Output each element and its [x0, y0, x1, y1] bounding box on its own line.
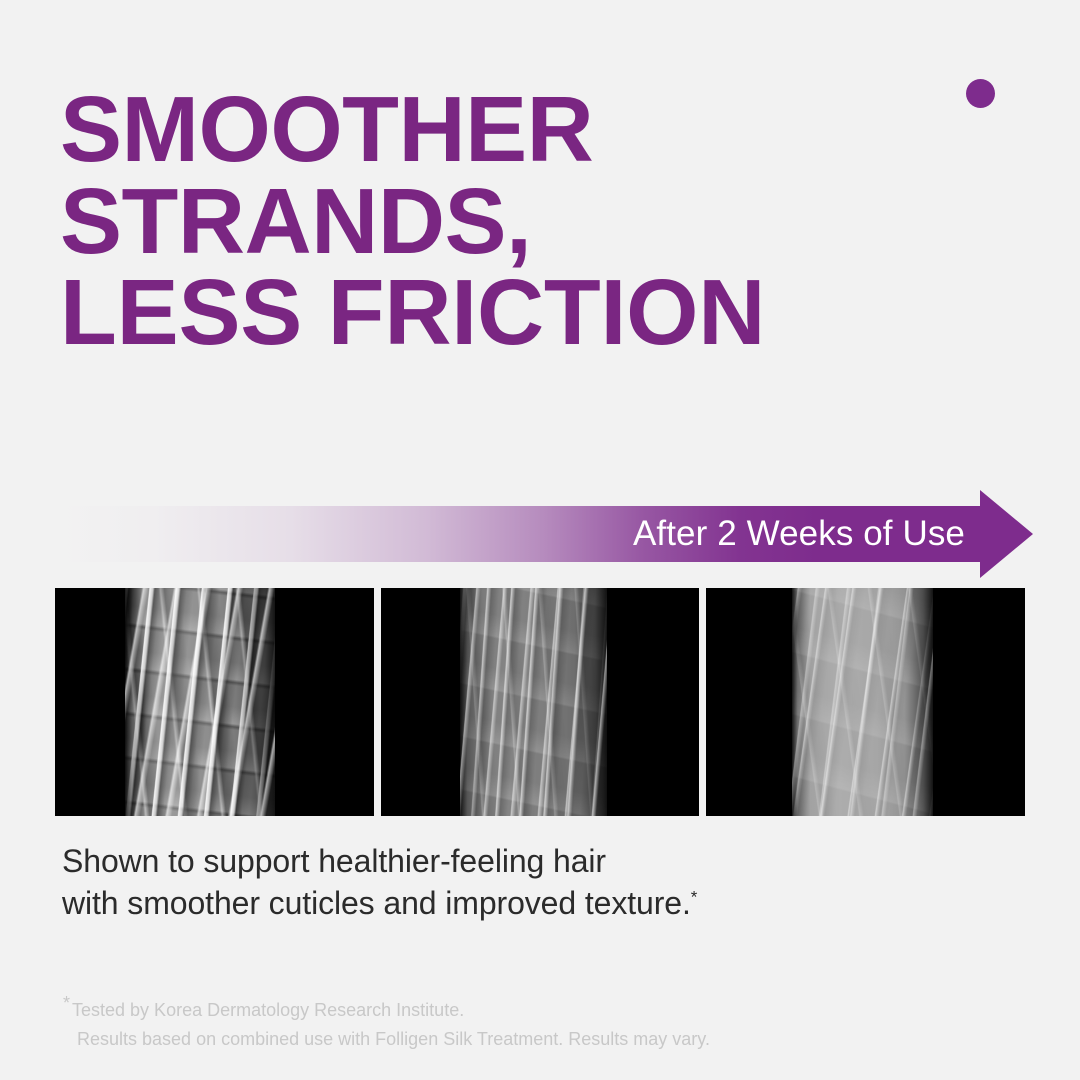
timeline-arrow: After 2 Weeks of Use [55, 486, 1033, 582]
claim-text: Shown to support healthier-feeling hair … [62, 841, 982, 924]
footnote-line-1-wrap: *Tested by Korea Dermatology Research In… [63, 996, 1003, 1025]
headline-block: SMOOTHER STRANDS, LESS FRICTION [60, 84, 980, 359]
footnote-star: * [63, 993, 70, 1013]
dot-accent-icon [966, 79, 995, 108]
ad-creative-canvas: SMOOTHER STRANDS, LESS FRICTION [0, 0, 1080, 1080]
footnote-block: *Tested by Korea Dermatology Research In… [63, 996, 1003, 1054]
sem-panel-baseline [55, 588, 374, 816]
arrow-right-icon [55, 486, 1033, 582]
sem-comparison-strip [55, 588, 1025, 816]
claim-line-1: Shown to support healthier-feeling hair [62, 841, 982, 883]
claim-line-2-wrap: with smoother cuticles and improved text… [62, 883, 982, 925]
footnote-line-1: Tested by Korea Dermatology Research Ins… [72, 1000, 464, 1020]
headline-line-3: LESS FRICTION [60, 267, 980, 359]
headline-line-2: STRANDS, [60, 176, 980, 268]
footnote-line-2: Results based on combined use with Folli… [63, 1025, 1003, 1054]
sem-panel-week-2 [706, 588, 1025, 816]
claim-line-2: with smoother cuticles and improved text… [62, 885, 691, 921]
sem-panel-week-1 [381, 588, 700, 816]
hair-strand-week-1 [460, 588, 607, 816]
claim-asterisk: * [691, 887, 698, 906]
headline-line-1: SMOOTHER [60, 84, 980, 176]
hair-strand-week-2 [792, 588, 932, 816]
hair-strand-baseline [125, 588, 275, 816]
